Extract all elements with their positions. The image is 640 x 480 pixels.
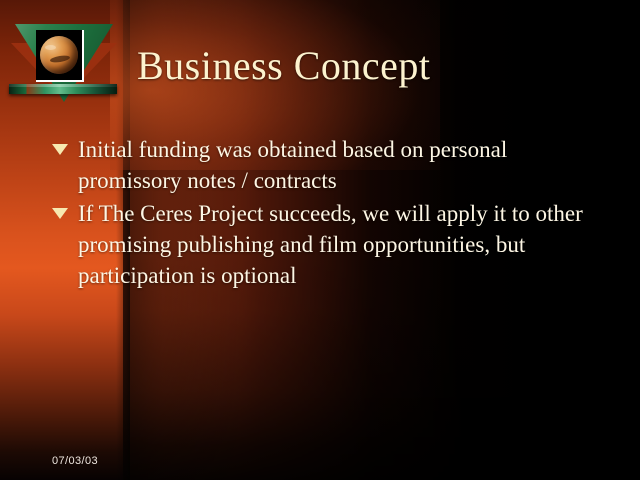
bullet-text: Initial funding was obtained based on pe…	[78, 137, 507, 193]
mars-planet-icon	[40, 36, 78, 74]
triangle-down-bullet-icon	[52, 208, 68, 219]
slide-body: Initial funding was obtained based on pe…	[48, 134, 608, 293]
mars-polar-cap	[45, 45, 56, 50]
gradient-bar-highlight	[9, 84, 117, 87]
slide-title: Business Concept	[137, 42, 431, 90]
planet-photo-frame	[36, 30, 84, 82]
mars-surface-marking	[50, 54, 71, 63]
triangle-down-bullet-icon	[52, 144, 68, 155]
mars-triangle-logo	[9, 17, 119, 107]
slide-date: 07/03/03	[52, 455, 98, 468]
presentation-slide: Business Concept Initial funding was obt…	[0, 0, 640, 480]
bullet-item: Initial funding was obtained based on pe…	[48, 134, 608, 196]
bullet-item: If The Ceres Project succeeds, we will a…	[48, 198, 608, 291]
bullet-text: If The Ceres Project succeeds, we will a…	[78, 201, 583, 288]
